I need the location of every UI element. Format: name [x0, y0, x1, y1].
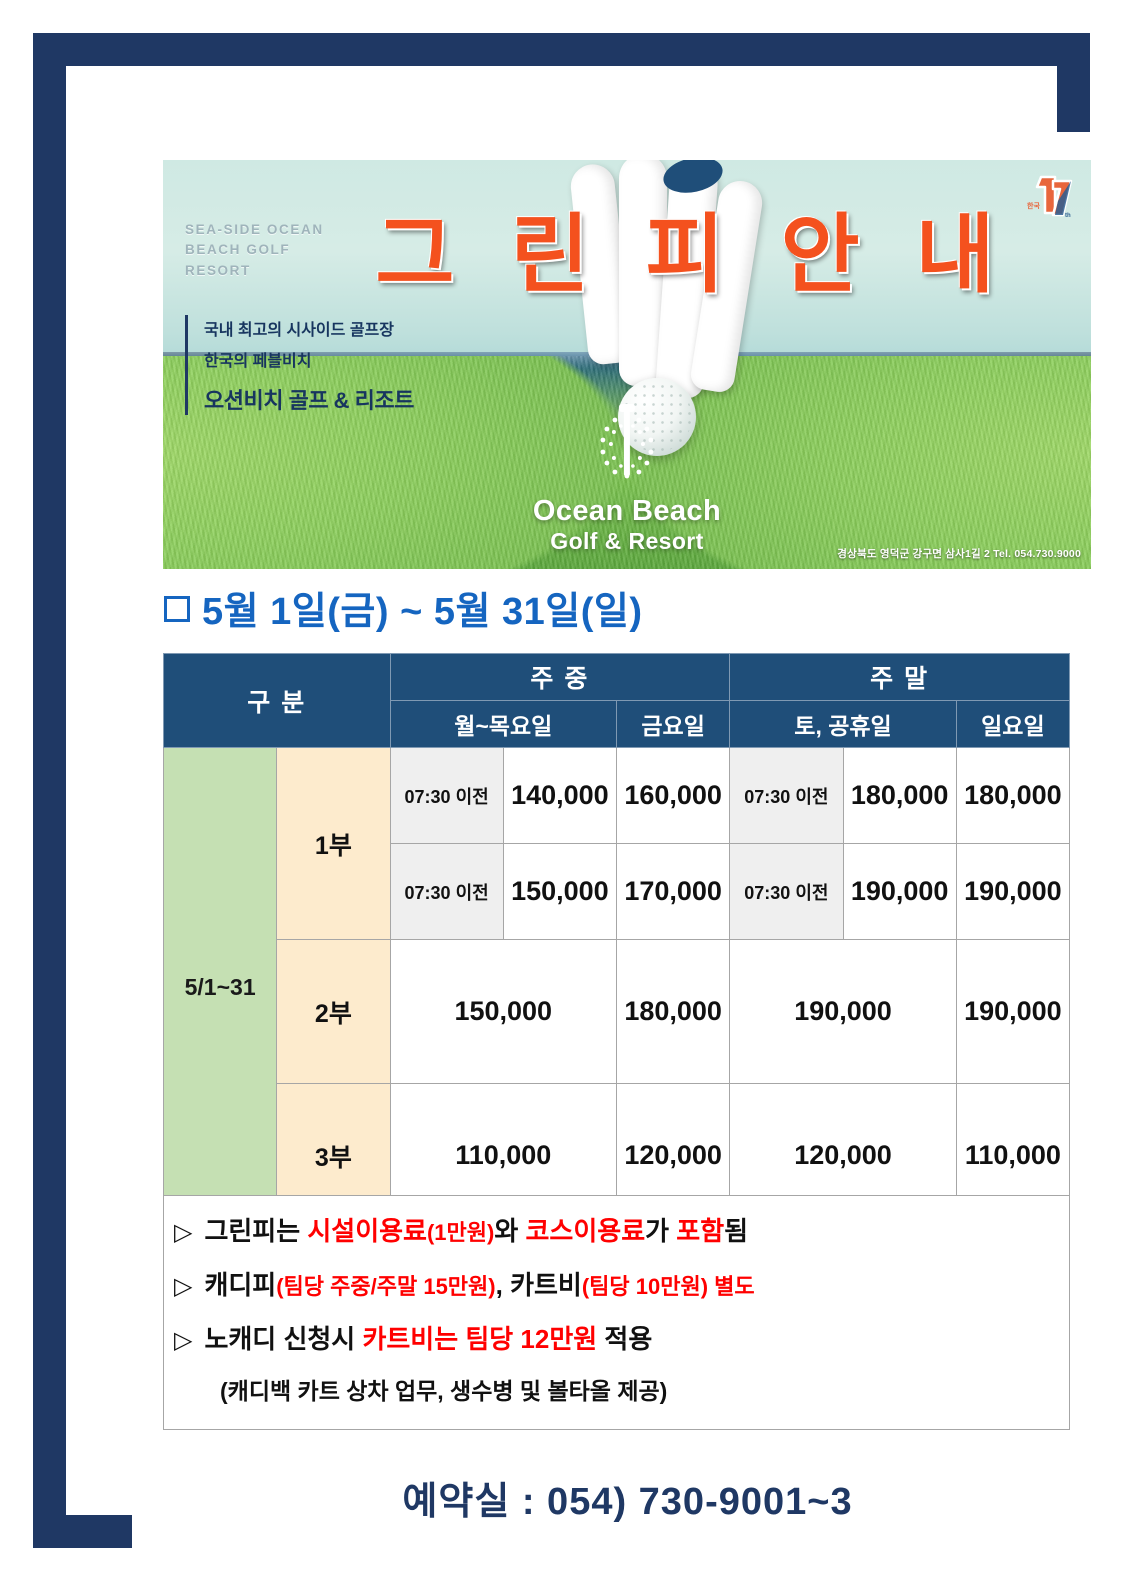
table-header-row-groups: 구 분 주 중 주 말 — [164, 654, 1070, 701]
greenfee-price-table: 구 분 주 중 주 말 월~목요일 금요일 토, 공휴일 일요일 5/1~31 … — [163, 653, 1070, 1228]
note-sub-text: (캐디백 카트 상차 업무, 생수병 및 볼타올 제공) — [220, 1372, 1069, 1406]
cell-weekend-time: 07:30 이전 — [730, 844, 843, 940]
poster-content-area: 그 린 피 안 내 SEA-SIDE OCEAN BEACH GOLF RESO… — [132, 132, 1123, 1581]
th-friday: 금요일 — [617, 701, 730, 748]
note-item: ▷ 노캐디 신청시 카트비는 팀당 12만원 적용 — [174, 1326, 1069, 1353]
note-item: ▷ 그린피는 시설이용료(1만원)와 코스이용료가 포함됨 — [174, 1218, 1069, 1245]
th-weekend-group: 주 말 — [730, 654, 1070, 701]
cell-price-mon-thu: 150,000 — [503, 844, 616, 940]
banner-left-text-block: SEA-SIDE OCEAN BEACH GOLF RESORT 국내 최고의 … — [185, 220, 465, 415]
note-span-red: 카트비는 팀당 12만원 — [362, 1324, 597, 1354]
banner-korean-line-1: 국내 최고의 시사이드 골프장 — [204, 315, 465, 346]
cell-price-mon-thu: 140,000 — [503, 748, 616, 844]
reservation-phone: 예약실 : 054) 730-9001~3 — [132, 1470, 1123, 1525]
anniversary-17-badge: 한국 th — [1021, 172, 1077, 220]
th-mon-thu: 월~목요일 — [390, 701, 617, 748]
cell-price-sunday: 190,000 — [956, 940, 1069, 1084]
cell-price-mon-thu: 150,000 — [390, 940, 617, 1084]
hero-banner: 그 린 피 안 내 SEA-SIDE OCEAN BEACH GOLF RESO… — [163, 160, 1091, 569]
notes-box: ▷ 그린피는 시설이용료(1만원)와 코스이용료가 포함됨 ▷ 캐디피(팀당 주… — [163, 1195, 1070, 1430]
note-span: 적용 — [597, 1324, 652, 1354]
note-span: 노캐디 신청시 — [204, 1324, 362, 1354]
banner-korean-line-2: 한국의 페블비치 — [204, 346, 465, 377]
resort-logo-mark — [581, 396, 673, 492]
poster-navy-frame: 그 린 피 안 내 SEA-SIDE OCEAN BEACH GOLF RESO… — [33, 33, 1090, 1548]
checkbox-square-icon — [164, 596, 190, 622]
cell-price-saturday: 180,000 — [843, 748, 956, 844]
table-row: 2부 150,000 180,000 190,000 190,000 — [164, 940, 1070, 1084]
cell-price-saturday: 190,000 — [730, 940, 957, 1084]
banner-korean-line-3: 오션비치 골프 & 리조트 — [204, 383, 465, 415]
cell-price-friday: 160,000 — [617, 748, 730, 844]
date-range-text: 5월 1일(금) ~ 5월 31일(일) — [202, 591, 642, 633]
note-span: 그린피는 — [204, 1216, 307, 1246]
note-span: 가 — [645, 1216, 676, 1246]
cell-part-2bu: 2부 — [277, 940, 390, 1084]
note-span-red: (팀당 10만원) 별도 — [582, 1274, 755, 1299]
resort-logo-name: Ocean Beach — [533, 496, 721, 528]
triangle-bullet-icon: ▷ — [174, 1329, 192, 1353]
note-span-red: 시설이용료 — [307, 1216, 427, 1246]
cell-weekday-time: 07:30 이전 — [390, 748, 503, 844]
date-range-heading: 5월 1일(금) ~ 5월 31일(일) — [164, 580, 642, 635]
note-span: , 카트비 — [496, 1270, 582, 1300]
cell-price-sunday: 180,000 — [956, 748, 1069, 844]
poster-page: 그 린 피 안 내 SEA-SIDE OCEAN BEACH GOLF RESO… — [0, 0, 1123, 1587]
table-head: 구 분 주 중 주 말 월~목요일 금요일 토, 공휴일 일요일 — [164, 654, 1070, 748]
triangle-bullet-icon: ▷ — [174, 1221, 192, 1245]
cell-price-friday: 180,000 — [617, 940, 730, 1084]
cell-weekend-time: 07:30 이전 — [730, 748, 843, 844]
resort-logo: Ocean Beach Golf & Resort — [533, 396, 721, 555]
note-span: 캐디피 — [204, 1270, 276, 1300]
banner-english-tagline: SEA-SIDE OCEAN BEACH GOLF RESORT — [185, 220, 465, 281]
cell-price-sunday: 190,000 — [956, 844, 1069, 940]
th-weekday-group: 주 중 — [390, 654, 730, 701]
banner-korean-tagline: 국내 최고의 시사이드 골프장 한국의 페블비치 오션비치 골프 & 리조트 — [185, 315, 465, 415]
resort-logo-subtitle: Golf & Resort — [533, 528, 721, 555]
svg-text:한국: 한국 — [1027, 201, 1040, 210]
note-span-red: (1만원) — [427, 1220, 494, 1245]
note-text: 캐디피(팀당 주중/주말 15만원), 카트비(팀당 10만원) 별도 — [204, 1272, 754, 1298]
cell-part-1bu: 1부 — [277, 748, 390, 940]
table-body: 5/1~31 1부 07:30 이전 140,000 160,000 07:30… — [164, 748, 1070, 1228]
note-text: 그린피는 시설이용료(1만원)와 코스이용료가 포함됨 — [204, 1218, 748, 1244]
th-division: 구 분 — [164, 654, 391, 748]
cell-period-label: 5/1~31 — [164, 748, 277, 1228]
note-item: ▷ 캐디피(팀당 주중/주말 15만원), 카트비(팀당 10만원) 별도 — [174, 1272, 1069, 1299]
th-sunday: 일요일 — [956, 701, 1069, 748]
table-row: 5/1~31 1부 07:30 이전 140,000 160,000 07:30… — [164, 748, 1070, 844]
cell-weekday-time: 07:30 이전 — [390, 844, 503, 940]
note-span-red: 포함 — [676, 1216, 724, 1246]
banner-address-line: 경상북도 영덕군 강구면 삼사1길 2 Tel. 054.730.9000 — [837, 546, 1081, 561]
triangle-bullet-icon: ▷ — [174, 1275, 192, 1299]
note-span: 와 — [494, 1216, 525, 1246]
note-span-red: 코스이용료 — [526, 1216, 646, 1246]
note-text: 노캐디 신청시 카트비는 팀당 12만원 적용 — [204, 1326, 652, 1352]
svg-text:th: th — [1065, 213, 1071, 219]
note-span: 됨 — [724, 1216, 748, 1246]
cell-price-friday: 170,000 — [617, 844, 730, 940]
cell-price-saturday: 190,000 — [843, 844, 956, 940]
th-saturday-holiday: 토, 공휴일 — [730, 701, 957, 748]
note-span-red: (팀당 주중/주말 15만원) — [276, 1274, 495, 1299]
